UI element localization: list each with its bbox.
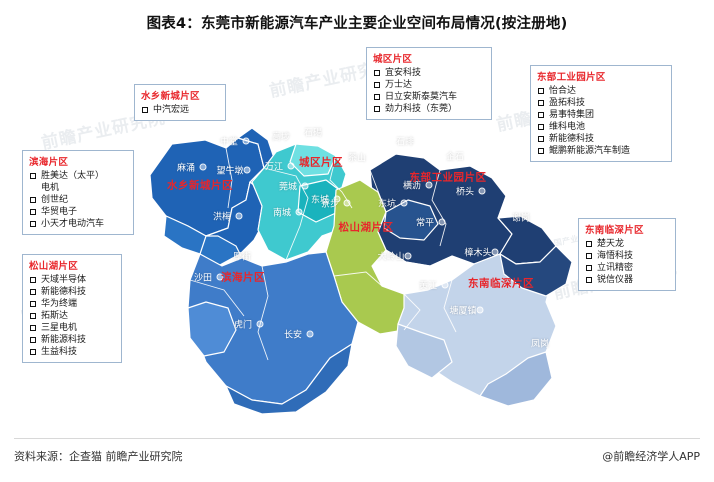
legend-item-label: 中汽宏远 (153, 104, 189, 116)
legend-item[interactable]: 新能德科技 (28, 286, 115, 298)
legend-item-label: 创世纪 (41, 194, 68, 206)
town-label: 樟木头 (464, 246, 491, 259)
town-marker-icon (244, 167, 251, 174)
legend-item-label: 新能德科技 (549, 133, 594, 145)
square-marker-icon (30, 173, 36, 179)
legend-item[interactable]: 宜安科技 (372, 67, 485, 79)
town-label: 黄江 (419, 279, 437, 292)
town-marker-icon (327, 129, 334, 136)
square-marker-icon (538, 88, 544, 94)
zone-label-chengqu: 城区片区 (299, 155, 343, 170)
source-text: 资料来源：企查猫 前瞻产业研究院 (14, 448, 183, 464)
legend-item-label: 新能源科技 (41, 334, 86, 346)
footer-divider (14, 438, 700, 439)
legend-item[interactable]: 拓斯达 (28, 310, 115, 322)
legend-title: 东部工业园片区 (537, 69, 665, 83)
legend-item[interactable]: 华为终端 (28, 298, 115, 310)
town-marker-icon (200, 164, 207, 171)
town-label: 高埗 (272, 130, 290, 143)
town-label: 石碣 (304, 126, 322, 139)
legend-item-line2: 电机 (41, 182, 104, 194)
town-marker-icon (492, 249, 499, 256)
square-marker-icon (30, 197, 36, 203)
legend-box-dongnan[interactable]: 东南临深片区 楚天龙 海悟科技 立讯精密 锐信仪器 (578, 218, 676, 291)
legend-item[interactable]: 新能德科技 (536, 133, 665, 145)
legend-item[interactable]: 怡合达 (536, 85, 665, 97)
legend-item-label: 万士达 (385, 79, 412, 91)
square-marker-icon (586, 253, 592, 259)
legend-item-line1: 胜美达（太平） (41, 171, 104, 181)
legend-item[interactable]: 立讯精密 (584, 262, 669, 274)
square-marker-icon (538, 124, 544, 130)
zone-label-dongbu: 东部工业园片区 (410, 170, 487, 185)
town-marker-icon (401, 200, 408, 207)
legend-item-label: 楚天龙 (597, 238, 624, 250)
town-marker-icon (442, 282, 449, 289)
legend-item-label: 华贸电子 (41, 206, 77, 218)
zone-label-songshanhu: 松山湖片区 (339, 220, 394, 235)
square-marker-icon (30, 301, 36, 307)
town-label: 企石 (446, 150, 464, 163)
town-label: 桥头 (456, 185, 474, 198)
page-title: 图表4：东莞市新能源汽车产业主要企业空间布局情况(按注册地) (0, 12, 714, 33)
zone-label-dongnan: 东南临深片区 (468, 276, 534, 291)
town-marker-icon (344, 200, 351, 207)
town-label: 望牛墩 (216, 164, 243, 177)
town-label: 寮步 (321, 197, 339, 210)
legend-box-songshanhu[interactable]: 松山湖片区 天域半导体 新能德科技 华为终端 拓斯达 三星电机 新能源科技 生益… (22, 254, 122, 363)
legend-item-label: 宜安科技 (385, 67, 421, 79)
legend-item-label: 盈拓科技 (549, 97, 585, 109)
legend-title: 水乡新城片区 (141, 88, 219, 102)
square-marker-icon (374, 70, 380, 76)
town-label: 谢岗 (512, 211, 530, 224)
town-label: 虎门 (234, 318, 252, 331)
legend-item[interactable]: 海悟科技 (584, 250, 669, 262)
square-marker-icon (538, 100, 544, 106)
legend-item-label: 鲲鹏新能源汽车制造 (549, 145, 630, 157)
town-marker-icon (371, 154, 378, 161)
town-marker-icon (554, 340, 561, 347)
town-label: 莞城 (279, 180, 297, 193)
town-label: 中堂 (220, 135, 238, 148)
legend-item[interactable]: 胜美达（太平） 电机 (28, 170, 127, 194)
legend-item[interactable]: 中汽宏远 (140, 104, 219, 116)
town-label: 万江 (265, 160, 283, 173)
legend-item[interactable]: 新能源科技 (28, 334, 115, 346)
town-label: 凤岗 (531, 337, 549, 350)
legend-item[interactable]: 万士达 (372, 79, 485, 91)
square-marker-icon (30, 277, 36, 283)
town-label: 厚街 (233, 250, 251, 263)
town-label: 大岭山 (377, 250, 404, 263)
legend-title: 东南临深片区 (585, 222, 669, 236)
legend-item[interactable]: 鲲鹏新能源汽车制造 (536, 145, 665, 157)
town-label: 麻涌 (177, 161, 195, 174)
square-marker-icon (142, 107, 148, 113)
legend-item-label: 怡合达 (549, 85, 576, 97)
square-marker-icon (374, 82, 380, 88)
legend-item-label: 海悟科技 (597, 250, 633, 262)
zone-label-shuixiang: 水乡新城片区 (167, 178, 233, 193)
legend-item-label: 天域半导体 (41, 274, 86, 286)
legend-item[interactable]: 华贸电子 (28, 206, 127, 218)
town-marker-icon (243, 138, 250, 145)
square-marker-icon (538, 136, 544, 142)
legend-box-binhai[interactable]: 滨海片区 胜美达（太平） 电机 创世纪 华贸电子 小天才电动汽车 (22, 150, 134, 235)
legend-item[interactable]: 日立安斯泰莫汽车 (372, 91, 485, 103)
town-marker-icon (439, 219, 446, 226)
legend-item-label: 三星电机 (41, 322, 77, 334)
legend-box-chengqu[interactable]: 城区片区 宜安科技 万士达 日立安斯泰莫汽车 劲力科技（东莞） (366, 47, 492, 120)
square-marker-icon (30, 221, 36, 227)
town-marker-icon (469, 153, 476, 160)
square-marker-icon (586, 265, 592, 271)
town-label: 沙田 (194, 271, 212, 284)
legend-item-label: 劲力科技（东莞） (385, 103, 457, 115)
legend-item-label: 胜美达（太平） 电机 (41, 170, 104, 194)
town-marker-icon (288, 163, 295, 170)
legend-item-label: 华为终端 (41, 298, 77, 310)
legend-item[interactable]: 楚天龙 (584, 238, 669, 250)
town-label: 长安 (284, 328, 302, 341)
square-marker-icon (586, 241, 592, 247)
legend-item[interactable]: 易事特集团 (536, 109, 665, 121)
zone-label-binhai: 滨海片区 (221, 270, 265, 285)
legend-title: 松山湖片区 (29, 258, 115, 272)
square-marker-icon (586, 277, 592, 283)
town-label: 洪梅 (213, 210, 231, 223)
legend-title: 滨海片区 (29, 154, 127, 168)
town-marker-icon (296, 209, 303, 216)
legend-item-label: 日立安斯泰莫汽车 (385, 91, 457, 103)
town-marker-icon (307, 331, 314, 338)
legend-item[interactable]: 盈拓科技 (536, 97, 665, 109)
town-label: 石排 (396, 135, 414, 148)
town-label: 塘厦镇 (449, 304, 476, 317)
square-marker-icon (30, 325, 36, 331)
legend-item[interactable]: 创世纪 (28, 194, 127, 206)
town-marker-icon (236, 213, 243, 220)
legend-item-label: 小天才电动汽车 (41, 218, 104, 230)
legend-item[interactable]: 小天才电动汽车 (28, 218, 127, 230)
legend-item[interactable]: 生益科技 (28, 346, 115, 358)
legend-item[interactable]: 锐信仪器 (584, 274, 669, 286)
legend-item[interactable]: 三星电机 (28, 322, 115, 334)
square-marker-icon (30, 289, 36, 295)
legend-box-dongbu[interactable]: 东部工业园片区 怡合达 盈拓科技 易事特集团 维科电池 新能德科技 鲲鹏新能源汽… (530, 65, 672, 162)
town-marker-icon (535, 214, 542, 221)
square-marker-icon (538, 148, 544, 154)
brand-text: @前瞻经济学人APP (602, 448, 700, 464)
legend-box-shuixiang[interactable]: 水乡新城片区 中汽宏远 (134, 84, 226, 121)
legend-item[interactable]: 维科电池 (536, 121, 665, 133)
town-label: 常平 (416, 216, 434, 229)
square-marker-icon (538, 112, 544, 118)
town-marker-icon (405, 253, 412, 260)
legend-item[interactable]: 劲力科技（东莞） (372, 103, 485, 115)
legend-title: 城区片区 (373, 51, 485, 65)
legend-item-label: 新能德科技 (41, 286, 86, 298)
square-marker-icon (374, 106, 380, 112)
legend-item-label: 易事特集团 (549, 109, 594, 121)
square-marker-icon (30, 337, 36, 343)
town-marker-icon (479, 188, 486, 195)
legend-item[interactable]: 天域半导体 (28, 274, 115, 286)
town-marker-icon (419, 138, 426, 145)
legend-item-label: 拓斯达 (41, 310, 68, 322)
figure-root: 图表4：东莞市新能源汽车产业主要企业空间布局情况(按注册地) 前瞻产业研究院 前… (0, 0, 714, 482)
town-marker-icon (257, 321, 264, 328)
town-label: 东坑 (378, 197, 396, 210)
town-label: 南城 (273, 206, 291, 219)
legend-item-label: 维科电池 (549, 121, 585, 133)
town-marker-icon (302, 183, 309, 190)
town-label: 茶山 (348, 151, 366, 164)
square-marker-icon (30, 209, 36, 215)
square-marker-icon (30, 313, 36, 319)
town-marker-icon (477, 307, 484, 314)
legend-item-label: 立讯精密 (597, 262, 633, 274)
legend-item-label: 生益科技 (41, 346, 77, 358)
town-marker-icon (295, 133, 302, 140)
legend-item-label: 锐信仪器 (597, 274, 633, 286)
town-marker-icon (256, 253, 263, 260)
square-marker-icon (30, 349, 36, 355)
square-marker-icon (374, 94, 380, 100)
